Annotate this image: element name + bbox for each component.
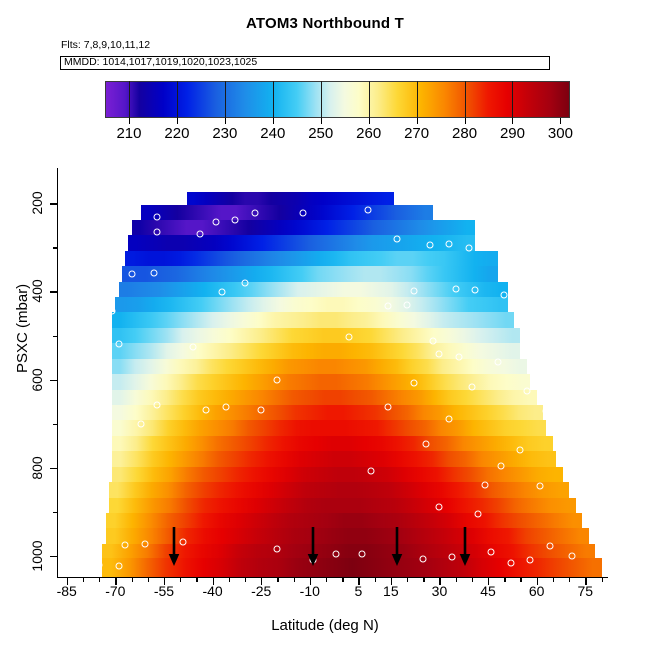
- colorbar-division: [177, 81, 178, 118]
- x-axis-minor-tick: [569, 578, 570, 582]
- colorbar-tick-label: 210: [116, 125, 141, 142]
- colorbar-division: [417, 81, 418, 118]
- colorbar-tick-label: 260: [356, 125, 381, 142]
- x-axis-tick-label: -85: [57, 583, 77, 599]
- x-axis-minor-tick: [326, 578, 327, 582]
- colorbar-tick: [417, 118, 418, 124]
- x-axis-minor-tick: [472, 578, 473, 582]
- y-axis-major-tick: [50, 203, 57, 204]
- colorbar-tick: [177, 118, 178, 124]
- temperature-curtain-plot: ATOM3 Northbound T Flts: 7,8,9,10,11,12 …: [0, 0, 650, 650]
- colorbar-tick: [465, 118, 466, 124]
- colorbar-division: [512, 81, 513, 118]
- x-axis-tick-label: 60: [529, 583, 545, 599]
- colorbar-division: [225, 81, 226, 118]
- colorbar-tick-label: 280: [452, 125, 477, 142]
- x-axis-tick-label: 30: [432, 583, 448, 599]
- x-axis-minor-tick: [180, 578, 181, 582]
- x-axis-minor-tick: [423, 578, 424, 582]
- x-axis-minor-tick: [229, 578, 230, 582]
- x-axis-minor-tick: [277, 578, 278, 582]
- colorbar: [105, 81, 570, 118]
- x-axis-minor-tick: [375, 578, 376, 582]
- x-axis-minor-tick: [148, 578, 149, 582]
- y-axis-minor-tick: [53, 247, 57, 248]
- y-axis-tick-label: 200: [29, 192, 45, 215]
- x-axis-minor-tick: [456, 578, 457, 582]
- y-axis-tick-label: 1000: [29, 540, 45, 571]
- colorbar-ticks: [105, 118, 570, 125]
- y-axis-minor-tick: [53, 336, 57, 337]
- colorbar-tick: [369, 118, 370, 124]
- x-axis-minor-tick: [407, 578, 408, 582]
- x-axis-minor-tick: [99, 578, 100, 582]
- colorbar-tick-label: 220: [164, 125, 189, 142]
- colorbar-tick: [560, 118, 561, 124]
- colorbar-division: [273, 81, 274, 118]
- colorbar-division: [321, 81, 322, 118]
- plot-panel: [57, 168, 608, 578]
- colorbar-division: [129, 81, 130, 118]
- flights-annotation: Flts: 7,8,9,10,11,12: [61, 39, 150, 51]
- x-axis-tick-labels: -85-70-55-40-25-1051530456075: [0, 583, 650, 603]
- x-axis-tick-label: 75: [578, 583, 594, 599]
- x-axis-tick-label: -40: [202, 583, 222, 599]
- x-axis-minor-tick: [196, 578, 197, 582]
- x-axis-minor-tick: [602, 578, 603, 582]
- x-axis-minor-tick: [132, 578, 133, 582]
- page-title: ATOM3 Northbound T: [0, 15, 650, 32]
- x-axis-minor-tick: [83, 578, 84, 582]
- colorbar-tick: [129, 118, 130, 124]
- x-axis-tick-label: -25: [251, 583, 271, 599]
- colorbar-tick: [321, 118, 322, 124]
- y-axis-major-tick: [50, 556, 57, 557]
- y-axis-tick-label: 800: [29, 456, 45, 479]
- y-axis-tick-label: 400: [29, 280, 45, 303]
- colorbar-tick-label: 230: [212, 125, 237, 142]
- x-axis-minor-tick: [504, 578, 505, 582]
- x-axis-title: Latitude (deg N): [0, 617, 650, 634]
- colorbar-tick-label: 290: [500, 125, 525, 142]
- x-axis-minor-tick: [342, 578, 343, 582]
- x-axis-tick-label: -10: [300, 583, 320, 599]
- colorbar-tick-labels: 210220230240250260270280290300: [0, 125, 650, 145]
- y-axis-major-tick: [50, 291, 57, 292]
- y-axis-major-tick: [50, 468, 57, 469]
- colorbar-tick: [273, 118, 274, 124]
- colorbar-division: [369, 81, 370, 118]
- colorbar-tick: [512, 118, 513, 124]
- colorbar-tick-label: 270: [404, 125, 429, 142]
- x-axis-tick-label: -55: [154, 583, 174, 599]
- colorbar-tick-label: 240: [260, 125, 285, 142]
- colorbar-tick-label: 300: [548, 125, 573, 142]
- mmdd-annotation: MMDD: 1014,1017,1019,1020,1023,1025: [64, 56, 257, 68]
- y-axis-major-tick: [50, 380, 57, 381]
- y-axis-minor-tick: [53, 424, 57, 425]
- x-axis-tick-label: 5: [355, 583, 363, 599]
- y-axis-title: PSXC (mbar): [14, 284, 31, 373]
- colorbar-tick-label: 250: [308, 125, 333, 142]
- plot-frame: [57, 168, 608, 578]
- colorbar-divisions: [105, 81, 570, 118]
- y-axis-tick-label: 600: [29, 368, 45, 391]
- colorbar-division: [465, 81, 466, 118]
- x-axis-tick-label: 15: [383, 583, 399, 599]
- x-axis-minor-tick: [245, 578, 246, 582]
- x-axis-tick-label: -70: [105, 583, 125, 599]
- x-axis-minor-tick: [520, 578, 521, 582]
- x-axis-minor-tick: [553, 578, 554, 582]
- y-axis-minor-tick: [53, 512, 57, 513]
- x-axis-tick-label: 45: [480, 583, 496, 599]
- colorbar-tick: [225, 118, 226, 124]
- x-axis-minor-tick: [294, 578, 295, 582]
